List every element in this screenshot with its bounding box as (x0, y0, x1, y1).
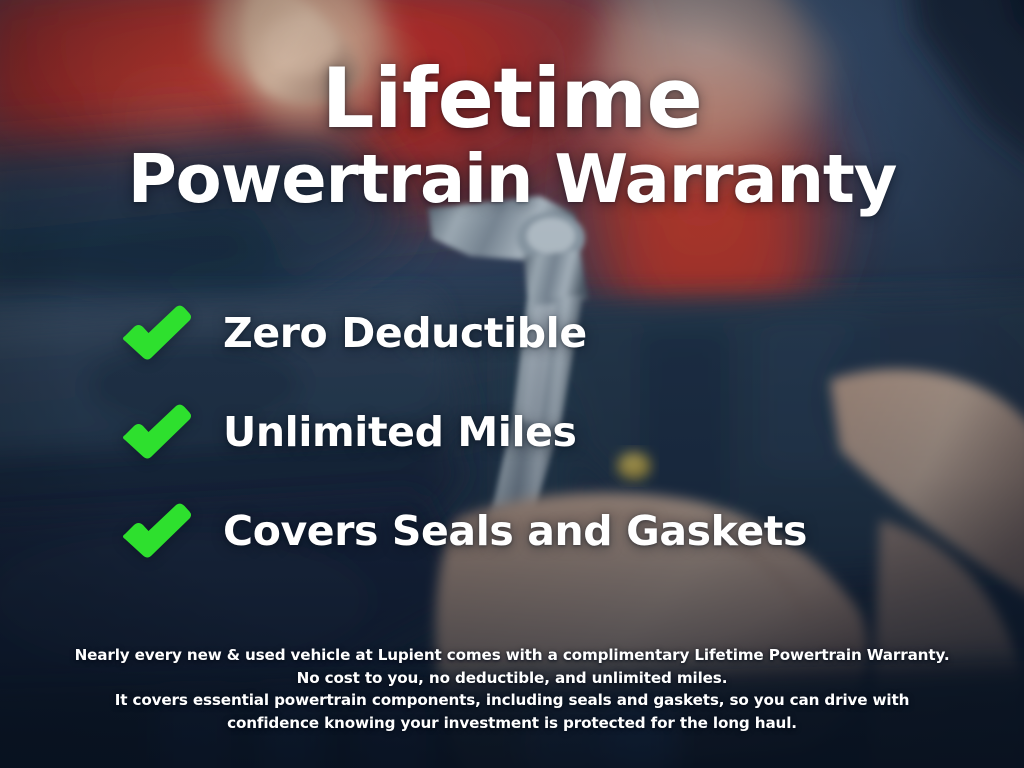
banner-content: Lifetime Powertrain Warranty Zero Deduct… (0, 0, 1024, 768)
feature-label: Zero Deductible (223, 309, 587, 357)
feature-item-covers-seals-and-gaskets: Covers Seals and Gaskets (118, 481, 978, 580)
headline-line-1: Lifetime (0, 57, 1024, 140)
green-check-icon (118, 302, 196, 364)
footer-description: Nearly every new & used vehicle at Lupie… (0, 644, 1024, 734)
headline-line-2: Powertrain Warranty (0, 146, 1024, 213)
feature-label: Unlimited Miles (223, 408, 577, 456)
promo-banner: Lifetime Powertrain Warranty Zero Deduct… (0, 0, 1024, 768)
feature-item-unlimited-miles: Unlimited Miles (118, 382, 978, 481)
feature-label: Covers Seals and Gaskets (223, 507, 807, 555)
footer-line-4: confidence knowing your investment is pr… (26, 712, 998, 735)
green-check-icon (118, 500, 196, 562)
feature-item-zero-deductible: Zero Deductible (118, 283, 978, 382)
green-check-icon (118, 401, 196, 463)
footer-line-1: Nearly every new & used vehicle at Lupie… (26, 644, 998, 667)
footer-line-2: No cost to you, no deductible, and unlim… (26, 667, 998, 690)
feature-list: Zero Deductible Unlimited Miles Covers S… (118, 283, 978, 580)
footer-line-3: It covers essential powertrain component… (26, 689, 998, 712)
